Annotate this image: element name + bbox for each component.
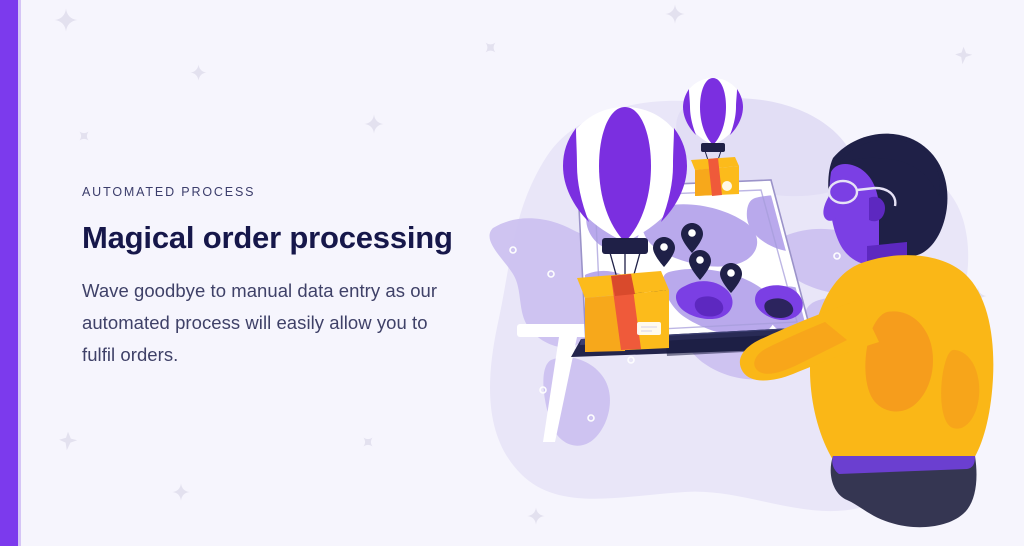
sparkle-star-icon: [58, 431, 78, 451]
copy-block: AUTOMATED PROCESS Magical order processi…: [82, 186, 462, 371]
sparkle-cross-icon: [172, 483, 190, 501]
sparkle-cross-icon: [54, 8, 78, 32]
page-title: Magical order processing: [82, 221, 462, 256]
slide-root: AUTOMATED PROCESS Magical order processi…: [0, 0, 1024, 546]
sparkle-cross-icon: [665, 4, 685, 24]
parcel-large: [577, 271, 669, 352]
left-accent-bar: [0, 0, 18, 546]
sparkle-star-icon: [361, 435, 375, 449]
eyebrow-label: AUTOMATED PROCESS: [82, 186, 462, 199]
body-paragraph: Wave goodbye to manual data entry as our…: [82, 275, 442, 370]
sparkle-cross-icon: [190, 64, 207, 81]
sparkle-cross-icon: [364, 114, 384, 134]
sparkle-star-icon: [77, 129, 91, 143]
illustration: [455, 60, 995, 530]
accent-bar-edge: [18, 0, 21, 546]
parcel-small: [691, 157, 739, 196]
sparkle-star-icon: [483, 40, 498, 55]
